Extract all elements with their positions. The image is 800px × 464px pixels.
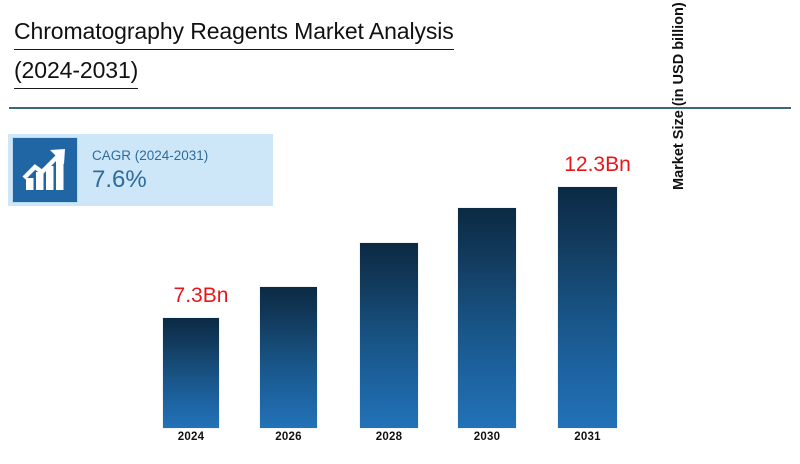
bar-2031 bbox=[558, 187, 617, 428]
page-title-line-2: (2024-2031) bbox=[14, 53, 138, 89]
y-axis-title: Market Size (in USD billion) bbox=[671, 0, 687, 190]
cagr-text-block: CAGR (2024-2031) 7.6% bbox=[92, 147, 208, 194]
value-label-2031: 12.3Bn bbox=[548, 152, 647, 177]
chart-page: Chromatography Reagents Market Analysis … bbox=[0, 0, 800, 464]
value-label-2024: 7.3Bn bbox=[153, 283, 249, 308]
bar-2030 bbox=[458, 208, 516, 428]
x-axis-label-2028: 2028 bbox=[346, 431, 432, 443]
x-axis-label-2026: 2026 bbox=[246, 431, 331, 443]
page-title-line-1: Chromatography Reagents Market Analysis bbox=[14, 14, 454, 50]
x-axis-label-2024: 2024 bbox=[149, 431, 233, 443]
bar-2028 bbox=[360, 243, 418, 428]
cagr-badge: CAGR (2024-2031) 7.6% bbox=[8, 134, 273, 206]
bar-2026 bbox=[260, 287, 317, 428]
cagr-value: 7.6% bbox=[92, 165, 208, 194]
x-axis-label-2030: 2030 bbox=[444, 431, 530, 443]
cagr-label: CAGR (2024-2031) bbox=[92, 147, 208, 164]
growth-bar-chart-arrow-icon bbox=[12, 137, 78, 203]
bar-2024 bbox=[163, 318, 219, 428]
x-axis-label-2031: 2031 bbox=[544, 431, 631, 443]
page-title: Chromatography Reagents Market Analysis … bbox=[14, 14, 654, 92]
